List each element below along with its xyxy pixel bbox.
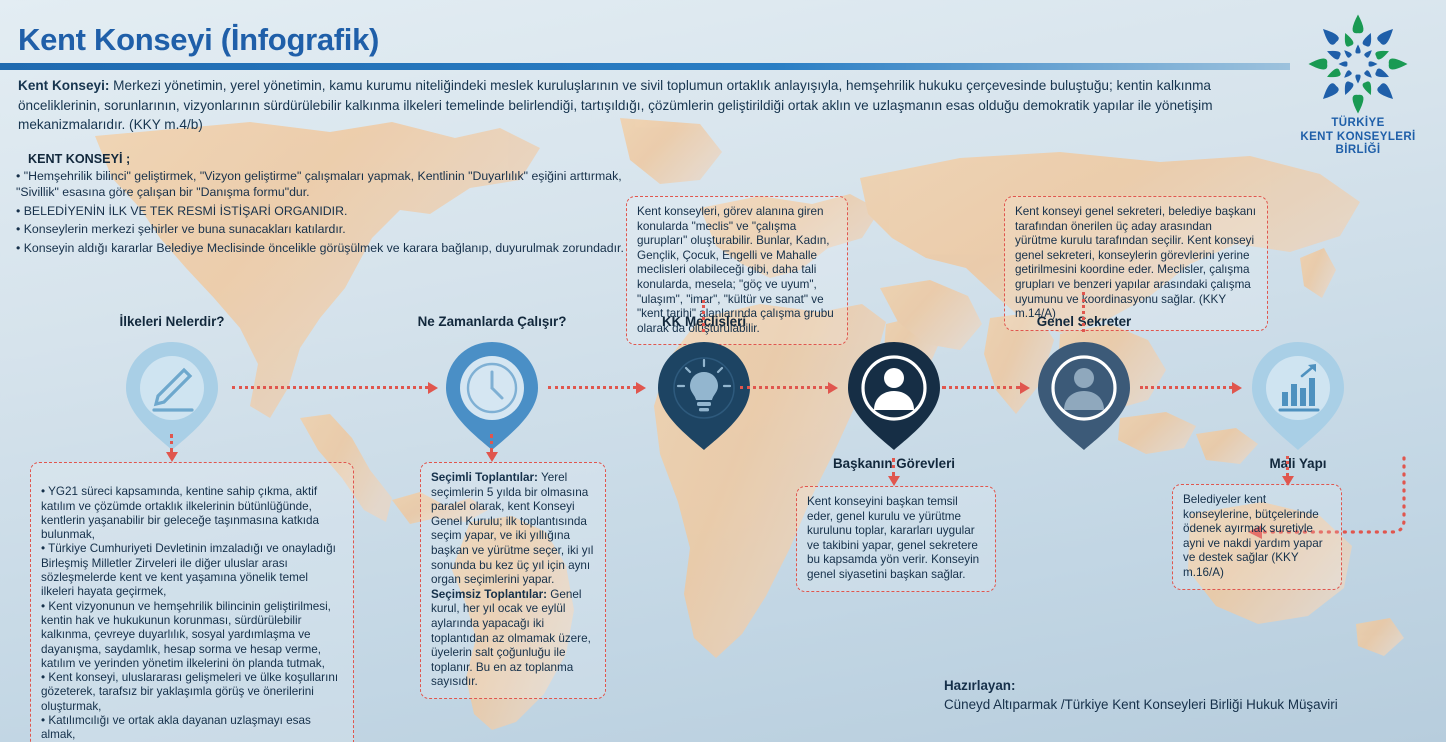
- summary-bullet: • Konseyin aldığı kararlar Belediye Mecl…: [16, 240, 636, 256]
- connector-mali-down: [1282, 456, 1294, 486]
- kent-konseyi-summary: KENT KONSEYİ ; • "Hemşehrilik bilinci" g…: [16, 152, 636, 256]
- callout-genel-sekreter: Kent konseyi genel sekreteri, belediye b…: [1004, 196, 1268, 331]
- summary-bullet: • BELEDİYENİN İLK VE TEK RESMİ İSTİŞARİ …: [16, 203, 636, 219]
- mandala-logo-icon: [1306, 14, 1410, 114]
- summary-bullet: • Konseylerin merkezi şehirler ve buna s…: [16, 221, 636, 237]
- intro-paragraph: Kent Konseyi: Merkezi yönetimin, yerel y…: [18, 76, 1280, 135]
- callout-baskan-text: Kent konseyini başkan temsil eder, genel…: [807, 495, 985, 583]
- callout-toplantilar-head-2: Seçimsiz Toplantılar:: [431, 588, 547, 601]
- callout-toplantilar-head-1: Seçimli Toplantılar:: [431, 471, 538, 484]
- summary-heading: KENT KONSEYİ ;: [28, 152, 636, 166]
- credit-block: Hazırlayan: Cüneyd Altıparmak /Türkiye K…: [944, 676, 1338, 714]
- person-icon[interactable]: [840, 338, 948, 454]
- connector-baskan-to-sekreter: [942, 382, 1032, 394]
- callout-genel-sekreter-text: Kent konseyi genel sekreteri, belediye b…: [1015, 205, 1257, 322]
- node-label-ilkeler: İlkeleri Nelerdir?: [120, 314, 225, 329]
- callout-toplantilar-part-1: Seçimli Toplantılar: Yerel seçimlerin 5 …: [431, 471, 595, 690]
- callout-mali-yapi: Belediyeler kent konseylerine, bütçeleri…: [1172, 484, 1342, 590]
- connector-zaman-down: [486, 434, 498, 462]
- logo-text: TÜRKİYE KENT KONSEYLERİ BİRLİĞİ: [1292, 117, 1424, 158]
- connector-sekreter-to-mali: [1140, 382, 1244, 394]
- connector-baskan-down: [888, 458, 900, 486]
- connector-zaman-to-meclisleri: [548, 382, 648, 394]
- intro-lead: Kent Konseyi:: [18, 78, 109, 93]
- callout-toplantilar: Seçimli Toplantılar: Yerel seçimlerin 5 …: [420, 462, 606, 699]
- person-icon[interactable]: [1030, 338, 1138, 454]
- callout-baskan: Kent konseyini başkan temsil eder, genel…: [796, 486, 996, 592]
- logo-line-2: KENT KONSEYLERİ: [1292, 131, 1424, 145]
- connector-meclisleri-up: [698, 300, 710, 334]
- credit-heading: Hazırlayan:: [944, 676, 1338, 695]
- bar-chart-icon[interactable]: [1244, 338, 1352, 454]
- node-genel-sekreter[interactable]: Genel Sekreter: [1030, 338, 1138, 459]
- node-mali-yapi[interactable]: Mali Yapı: [1244, 338, 1352, 459]
- connector-ilkeler-to-zaman: [232, 382, 440, 394]
- brand-logo: TÜRKİYE KENT KONSEYLERİ BİRLİĞİ: [1292, 14, 1424, 158]
- credit-name: Cüneyd Altıparmak /Türkiye Kent Konseyle…: [944, 695, 1338, 714]
- summary-bullet: "Sivillik" esasına göre çalışan bir "Dan…: [16, 184, 636, 200]
- summary-bullet: • "Hemşehrilik bilinci" geliştirmek, "Vi…: [16, 168, 636, 184]
- callout-ilkeler: • YG21 süreci kapsamında, kentine sahip …: [30, 462, 354, 742]
- lightbulb-icon[interactable]: [650, 338, 758, 454]
- node-label-mali: Mali Yapı: [1269, 456, 1326, 471]
- connector-meclisleri-to-baskan: [740, 382, 840, 394]
- callout-toplantilar-body-2: Genel kurul, her yıl ocak ve eylül aylar…: [431, 588, 591, 689]
- connector-ilkeler-down: [166, 434, 178, 462]
- logo-line-3: BİRLİĞİ: [1292, 144, 1424, 158]
- callout-mali-yapi-text: Belediyeler kent konseylerine, bütçeleri…: [1183, 493, 1331, 581]
- connector-sekreter-up: [1078, 292, 1090, 334]
- page-title: Kent Konseyi (İnfografik): [18, 22, 379, 58]
- logo-line-1: TÜRKİYE: [1292, 117, 1424, 131]
- title-divider: [0, 63, 1290, 70]
- callout-toplantilar-body-1: Yerel seçimlerin 5 yılda bir olmasına pa…: [431, 471, 593, 586]
- node-baskanin-gorevleri[interactable]: Başkanın Görevleri: [840, 338, 948, 459]
- page-header: Kent Konseyi (İnfografik) Kent Konseyi: …: [0, 0, 1446, 148]
- intro-body: Merkezi yönetimin, yerel yönetimin, kamu…: [18, 78, 1213, 132]
- node-label-zaman: Ne Zamanlarda Çalışır?: [418, 314, 567, 329]
- node-kk-meclisleri[interactable]: KK Meclisleri: [650, 338, 758, 459]
- callout-ilkeler-text: • YG21 süreci kapsamında, kentine sahip …: [41, 485, 343, 742]
